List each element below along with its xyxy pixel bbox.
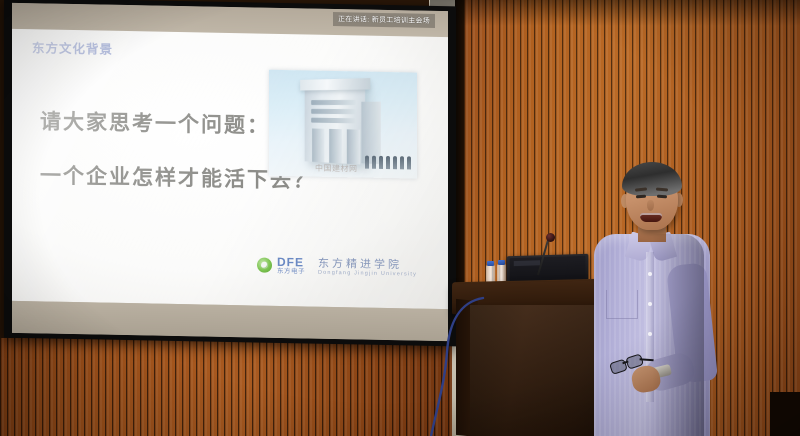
figure-silhouette xyxy=(379,156,383,169)
monument-cap xyxy=(300,78,370,90)
image-watermark: 中国建材网 xyxy=(315,163,358,175)
bottle-cap xyxy=(498,260,505,265)
speaker-mouth xyxy=(640,213,662,222)
lecture-hall-photo: 东方文化背景 请大家思考一个问题： 一个企业怎样才能活下去？ xyxy=(0,0,800,436)
monument-leg xyxy=(329,129,342,164)
microphone-head-icon xyxy=(546,233,555,242)
monument-bar xyxy=(311,100,356,105)
logo-name-block: 东方精进学院 Dongfang Jingjin University xyxy=(318,257,417,278)
speaker-nose xyxy=(647,200,654,211)
figure-silhouette xyxy=(372,156,376,169)
speaker-eye-right xyxy=(657,195,667,199)
monument-bar xyxy=(311,109,356,114)
laptop-screen-glow xyxy=(514,260,540,266)
shirt-button xyxy=(648,272,652,276)
leaf-circle-icon xyxy=(257,258,272,273)
speaker-hair xyxy=(622,162,682,196)
slide-title: 东方文化背景 xyxy=(32,37,113,58)
logo-name-en: Dongfang Jingjin University xyxy=(318,269,417,277)
slide-footer-logo: DFE 东方电子 东方精进学院 Dongfang Jingjin Univers… xyxy=(257,256,417,279)
monument-graphic xyxy=(305,84,365,164)
figure-silhouette xyxy=(386,156,390,169)
screen-surface: 东方文化背景 请大家思考一个问题： 一个企业怎样才能活下去？ xyxy=(12,3,448,341)
monument-bar xyxy=(311,118,356,124)
bottle-cap xyxy=(487,261,494,266)
shirt-button xyxy=(648,302,652,306)
logo-abbrev-sub: 东方电子 xyxy=(277,268,305,276)
status-badge: 正在讲话: 新员工培训主会场 xyxy=(333,12,435,28)
figure-silhouette xyxy=(365,156,369,169)
presentation-slide: 东方文化背景 请大家思考一个问题： 一个企业怎样才能活下去？ xyxy=(12,29,448,309)
projection-screen: 东方文化背景 请大家思考一个问题： 一个企业怎样才能活下去？ xyxy=(4,0,456,346)
monument-leg xyxy=(312,128,324,162)
logo-abbrev-block: DFE 东方电子 xyxy=(277,256,305,276)
figure-silhouette xyxy=(400,156,404,169)
monument-leg xyxy=(347,129,360,164)
slide-image-win-monument: 中国建材网 xyxy=(269,70,417,179)
figure-silhouette xyxy=(407,156,411,169)
wall-dark-corner xyxy=(770,392,800,436)
logo-abbrev: DFE xyxy=(277,256,305,269)
shirt-button xyxy=(648,332,652,336)
figure-silhouette xyxy=(393,156,397,169)
ceiling-shadow xyxy=(430,0,800,26)
slide-body-line-1: 请大家思考一个问题： xyxy=(40,105,270,139)
speaker xyxy=(588,160,716,436)
shirt-pocket xyxy=(606,290,638,319)
wood-slat-wall-below-screen xyxy=(0,338,452,436)
monument-side-column xyxy=(361,102,380,165)
